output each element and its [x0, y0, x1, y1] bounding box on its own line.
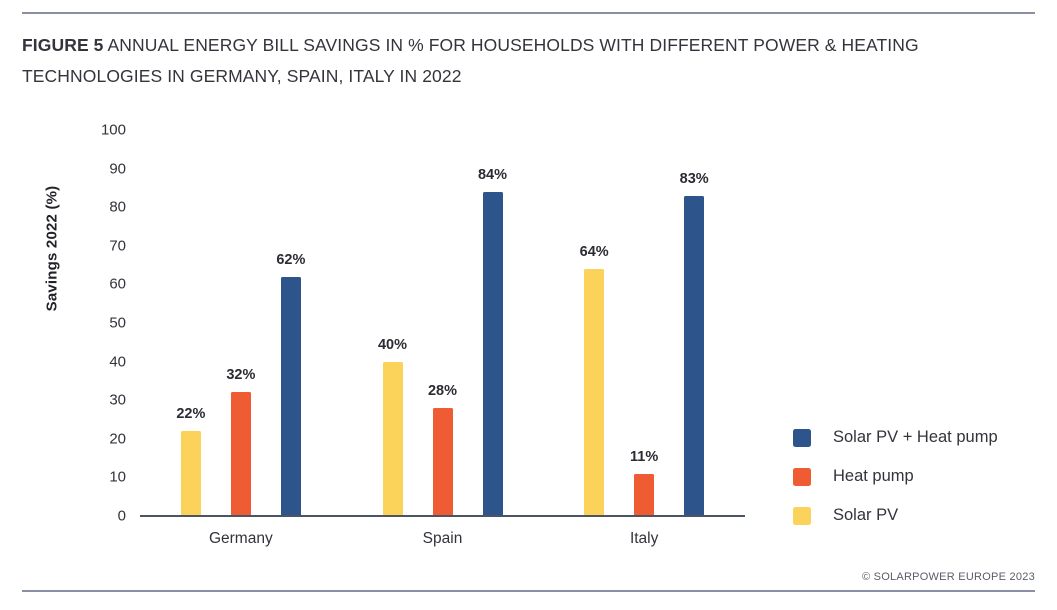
bar[interactable]	[483, 192, 503, 516]
y-axis-tick: 90	[78, 160, 126, 177]
legend-item[interactable]: Solar PV	[793, 496, 998, 535]
bar-value-label: 22%	[176, 406, 205, 422]
y-axis-tick-labels: 0102030405060708090100	[78, 0, 126, 610]
bar[interactable]	[231, 392, 251, 516]
bar-value-label: 83%	[680, 171, 709, 187]
y-axis-tick: 100	[78, 122, 126, 139]
bar-group: 40%28%84%	[383, 130, 503, 516]
legend-item[interactable]: Solar PV + Heat pump	[793, 418, 998, 457]
y-axis-tick: 0	[78, 508, 126, 525]
legend-item[interactable]: Heat pump	[793, 457, 998, 496]
y-axis-tick: 70	[78, 237, 126, 254]
bar[interactable]	[281, 277, 301, 516]
chart-canvas: Savings 2022 (%) 0102030405060708090100 …	[0, 0, 1057, 610]
y-axis-tick: 80	[78, 199, 126, 216]
y-axis-tick: 60	[78, 276, 126, 293]
legend-label: Solar PV	[833, 506, 898, 525]
x-axis-label: Italy	[630, 530, 658, 548]
bar-value-label: 32%	[226, 367, 255, 383]
bar-value-label: 28%	[428, 383, 457, 399]
legend-label: Solar PV + Heat pump	[833, 428, 998, 447]
y-axis-tick: 50	[78, 315, 126, 332]
legend-color-swatch	[793, 429, 811, 447]
bar[interactable]	[383, 362, 403, 516]
x-axis-line	[140, 515, 745, 517]
legend-color-swatch	[793, 507, 811, 525]
bar-value-label: 84%	[478, 167, 507, 183]
x-axis-category-labels: GermanySpainItaly	[140, 530, 745, 558]
plot-region: 22%32%62%40%28%84%64%11%83%	[140, 130, 745, 516]
copyright-notice: © SOLARPOWER EUROPE 2023	[862, 571, 1035, 583]
legend-label: Heat pump	[833, 467, 914, 486]
y-axis-tick: 40	[78, 353, 126, 370]
bar[interactable]	[181, 431, 201, 516]
bar[interactable]	[433, 408, 453, 516]
legend-color-swatch	[793, 468, 811, 486]
bottom-divider	[22, 590, 1035, 592]
chart-legend: Solar PV + Heat pumpHeat pumpSolar PV	[793, 418, 998, 535]
y-axis-tick: 30	[78, 392, 126, 409]
x-axis-label: Germany	[209, 530, 273, 548]
bar-value-label: 11%	[630, 449, 658, 465]
y-axis-tick: 20	[78, 430, 126, 447]
bar-group: 22%32%62%	[181, 130, 301, 516]
bar[interactable]	[584, 269, 604, 516]
bar-group: 64%11%83%	[584, 130, 704, 516]
y-axis-tick: 10	[78, 469, 126, 486]
bar-value-label: 40%	[378, 337, 407, 353]
y-axis-title: Savings 2022 (%)	[44, 159, 61, 339]
bar-value-label: 62%	[276, 252, 305, 268]
x-axis-label: Spain	[423, 530, 463, 548]
bar-value-label: 64%	[580, 244, 609, 260]
bar[interactable]	[684, 196, 704, 516]
bar[interactable]	[634, 474, 654, 516]
